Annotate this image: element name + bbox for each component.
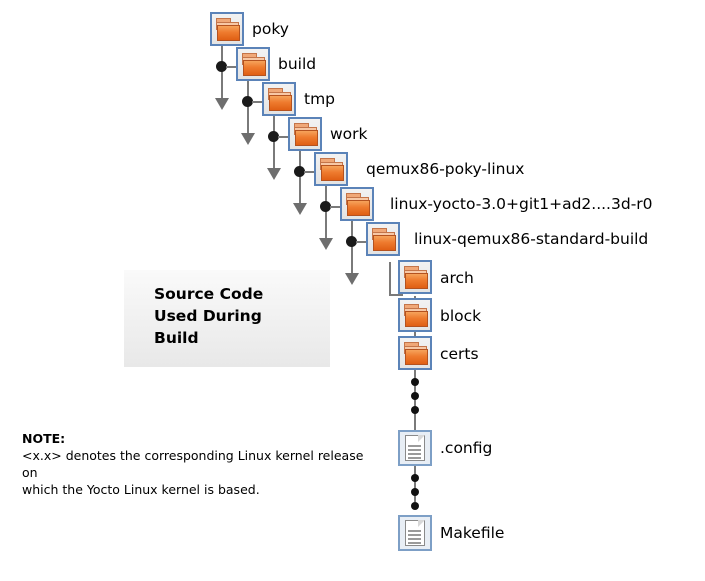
document-icon xyxy=(398,430,432,466)
tree-node-label-linux-yocto: linux-yocto-3.0+git1+ad2....3d-r0 xyxy=(390,195,653,213)
ellipsis-dot xyxy=(411,378,419,386)
folder-icon xyxy=(398,336,432,370)
arrowhead-tmp xyxy=(267,168,281,180)
tree-node-label-work: work xyxy=(330,125,368,143)
callout-box-source-code: Source Code Used During Build xyxy=(124,270,330,367)
ellipsis-dot xyxy=(411,474,419,482)
arrowhead-work xyxy=(293,203,307,215)
note-body: <x.x> denotes the corresponding Linux ke… xyxy=(22,447,372,498)
folder-icon xyxy=(262,82,296,116)
folder-icon xyxy=(210,12,244,46)
directory-tree-diagram: poky build tmp work qemux86-poky-linux l… xyxy=(0,0,705,581)
ellipsis-dot xyxy=(411,502,419,510)
folder-icon xyxy=(236,47,270,81)
note-block: NOTE: <x.x> denotes the corresponding Li… xyxy=(22,431,372,498)
arrowhead-poky xyxy=(215,98,229,110)
tree-node-label-config-file: .config xyxy=(440,439,492,457)
tree-node-label-makefile: Makefile xyxy=(440,524,504,542)
tree-node-label-certs: certs xyxy=(440,345,479,363)
tree-node-label-arch: arch xyxy=(440,269,474,287)
arrowhead-build xyxy=(241,133,255,145)
tree-node-label-build: build xyxy=(278,55,316,73)
ellipsis-dot xyxy=(411,392,419,400)
connector-elbow-vline-standardbuild xyxy=(389,262,391,296)
note-title: NOTE: xyxy=(22,431,372,447)
folder-icon xyxy=(340,187,374,221)
arrowhead-qemux86 xyxy=(319,238,333,250)
folder-icon xyxy=(366,222,400,256)
arrowhead-linuxyocto xyxy=(345,273,359,285)
folder-icon xyxy=(288,117,322,151)
folder-icon xyxy=(398,298,432,332)
tree-node-label-qemux86-poky-linux: qemux86-poky-linux xyxy=(366,160,524,178)
ellipsis-dot xyxy=(411,488,419,496)
tree-node-label-block: block xyxy=(440,307,481,325)
folder-icon xyxy=(398,260,432,294)
folder-icon xyxy=(314,152,348,186)
tree-node-label-poky: poky xyxy=(252,20,289,38)
document-icon xyxy=(398,515,432,551)
tree-node-label-tmp: tmp xyxy=(304,90,335,108)
tree-node-label-linux-qemux86-standard-build: linux-qemux86-standard-build xyxy=(414,230,648,248)
connector-elbow-hline-standardbuild-arch xyxy=(389,294,403,296)
ellipsis-dot xyxy=(411,406,419,414)
callout-text: Source Code Used During Build xyxy=(154,283,263,349)
